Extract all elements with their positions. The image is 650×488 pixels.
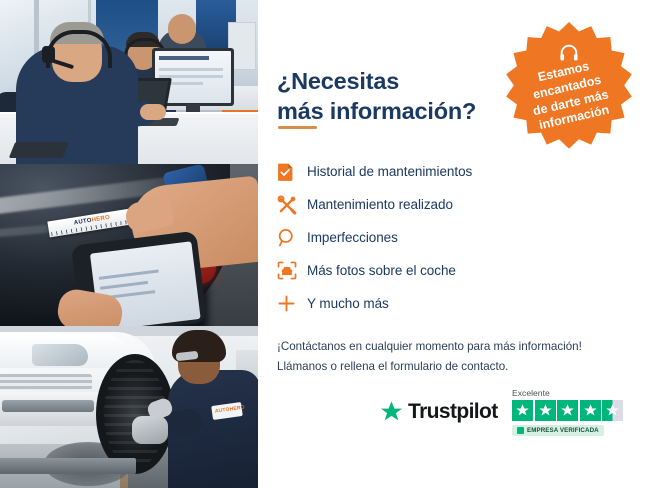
page-title-line2: más información? [277, 98, 476, 124]
verified-business-label: EMPRESA VERIFICADA [527, 427, 599, 434]
star-icon [512, 400, 533, 421]
list-item: Imperfecciones [277, 221, 577, 254]
document-check-icon [277, 161, 307, 183]
star-icon-half [602, 400, 623, 421]
trustpilot-rating: Excelente EMPRESA VERIFICADA [512, 388, 630, 439]
mechanic-wheel-inspection-photo: AUTOHERO [0, 326, 258, 488]
list-item: Y mucho más [277, 287, 577, 320]
promo-badge: Estamos encantados de darte más informac… [503, 22, 635, 154]
call-center-agents-photo [0, 0, 258, 164]
crossed-tools-icon [277, 194, 307, 216]
trustpilot-star-icon [379, 400, 404, 424]
contact-paragraph-line2: Llámanos o rellena el formulario de cont… [277, 360, 508, 373]
page-title-line1: ¿Necesitas [277, 68, 399, 94]
star-icon [580, 400, 601, 421]
car-inspection-ruler-photo: AUTOHERO [0, 164, 258, 326]
polo-brand-text: AUTOHERO [215, 405, 246, 415]
trustpilot-logo: Trustpilot [379, 400, 498, 424]
star-icon [557, 400, 578, 421]
magnifier-icon [277, 227, 307, 249]
list-item-label: Imperfecciones [307, 230, 398, 245]
content-panel: ¿Necesitas más información? Estamos enca… [258, 0, 650, 488]
trustpilot-wordmark: Trustpilot [408, 400, 498, 424]
list-item-label: Más fotos sobre el coche [307, 263, 456, 278]
list-item: Más fotos sobre el coche [277, 254, 577, 287]
feature-list: Historial de mantenimientos Mantenimient… [277, 155, 577, 320]
check-icon [517, 427, 524, 434]
verified-business-badge: EMPRESA VERIFICADA [512, 425, 604, 436]
list-item: Mantenimiento realizado [277, 188, 577, 221]
trustpilot-widget[interactable]: Trustpilot Excelente EMPRESA VERIFICADA [379, 388, 629, 446]
plus-icon [277, 293, 307, 315]
list-item-label: Historial de mantenimientos [307, 164, 472, 179]
contact-paragraph: ¡Contáctanos en cualquier momento para m… [277, 337, 627, 377]
star-rating [512, 400, 630, 421]
promo-card: AUTOHERO [0, 0, 650, 488]
contact-paragraph-line1: ¡Contáctanos en cualquier momento para m… [277, 340, 582, 353]
list-item: Historial de mantenimientos [277, 155, 577, 188]
title-divider [278, 126, 317, 129]
rating-label: Excelente [512, 388, 630, 398]
car-scan-icon [277, 260, 307, 282]
list-item-label: Y mucho más [307, 296, 389, 311]
list-item-label: Mantenimiento realizado [307, 197, 453, 212]
photo-collage: AUTOHERO [0, 0, 258, 488]
page-title: ¿Necesitas más información? [277, 66, 507, 126]
star-icon [535, 400, 556, 421]
